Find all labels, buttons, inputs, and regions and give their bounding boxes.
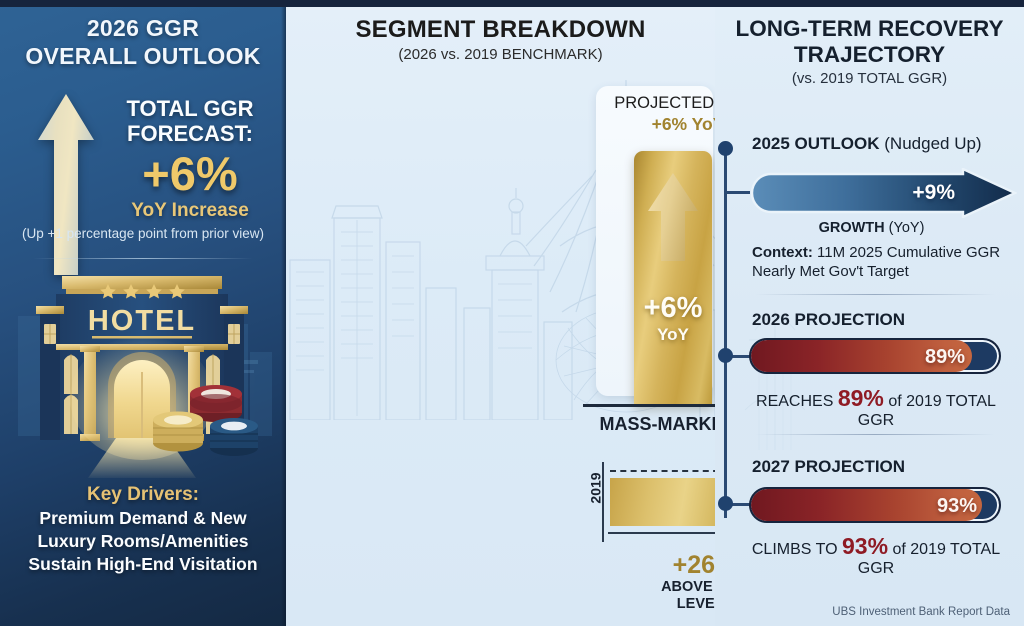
- section-heading-2026: 2026 PROJECTION: [752, 310, 905, 330]
- projection-caption-2027: CLIMBS TO 93% of 2019 TOTAL GGR: [745, 533, 1007, 578]
- left-title-line2: OVERALL OUTLOOK: [0, 42, 286, 70]
- projection-caption-2026: REACHES 89% of 2019 TOTAL GGR: [745, 385, 1007, 430]
- key-drivers-line2: Luxury Rooms/Amenities: [4, 531, 282, 552]
- mini-2019-level-line-mass: [610, 470, 715, 472]
- left-title-line1: 2026 GGR: [0, 14, 286, 42]
- growth-arrow-bar-2025: +9%: [749, 168, 1017, 218]
- mid-title-main: SEGMENT BREAKDOWN: [286, 16, 715, 44]
- projection-value-2026: 89%: [925, 346, 965, 369]
- growth-label-bold: GROWTH: [819, 220, 885, 236]
- timeline-dot-2026: [718, 348, 733, 363]
- key-drivers-heading: Key Drivers:: [4, 483, 282, 506]
- heading-2025-normal: (Nudged Up): [880, 134, 982, 153]
- gold-bar-value: +6%: [634, 293, 712, 324]
- top-strip: [0, 0, 1024, 7]
- mini-bar-mass: [610, 478, 715, 526]
- context-label: Context:: [752, 244, 813, 261]
- growth-label-2025: GROWTH (YoY): [749, 220, 994, 236]
- caption-2026-big: 89%: [838, 385, 884, 411]
- segment-breakdown-title: SEGMENT BREAKDOWN (2026 vs. 2019 BENCHMA…: [286, 16, 715, 63]
- projection-bar-2027: 93%: [749, 487, 1001, 523]
- left-panel: 2026 GGR OVERALL OUTLOOK TOTAL GGR FOREC…: [0, 0, 286, 626]
- category-label-mass-market: MASS-MARKET GGR: [590, 414, 715, 435]
- heading-2026-bold: 2026 PROJECTION: [752, 310, 905, 329]
- rise-label-text: PROJECTED RISE:: [588, 94, 715, 113]
- projection-bar-2026: 89%: [749, 338, 1001, 374]
- middle-panel: SEGMENT BREAKDOWN (2026 vs. 2019 BENCHMA…: [286, 0, 715, 626]
- timeline-rail: [724, 148, 727, 518]
- key-drivers-line1: Premium Demand & New: [4, 508, 282, 529]
- separator-2: [755, 434, 995, 435]
- gold-bar-sub: YoY: [634, 325, 712, 345]
- mass-market-gold-bar: +6% YoY: [634, 151, 712, 405]
- hotel-illustration: HOTEL: [0, 268, 286, 478]
- right-title-line2: TRAJECTORY: [715, 42, 1024, 68]
- mass-pct-value: +26%: [620, 552, 715, 579]
- source-footer: UBS Investment Bank Report Data: [832, 606, 1010, 618]
- gold-up-arrow-icon: [645, 171, 701, 268]
- up-arrow-icon: [36, 92, 96, 277]
- forecast-label-line2: FORECAST:: [100, 121, 280, 146]
- growth-label-normal: (YoY): [885, 220, 925, 236]
- right-title-line1: LONG-TERM RECOVERY: [715, 16, 1024, 42]
- key-drivers: Key Drivers: Premium Demand & New Luxury…: [4, 483, 282, 575]
- forecast-subtitle: YoY Increase: [100, 200, 280, 222]
- mid-title-sub: (2026 vs. 2019 BENCHMARK): [286, 46, 715, 63]
- mass-pct-sub1: ABOVE 2019: [620, 579, 715, 596]
- forecast-label-line1: TOTAL GGR: [100, 96, 280, 121]
- context-note-2025: Context: 11M 2025 Cumulative GGR Nearly …: [752, 243, 1002, 281]
- timeline-stub-2025: [726, 191, 750, 194]
- section-heading-2027: 2027 PROJECTION: [752, 457, 905, 477]
- chart-baseline: [583, 404, 715, 407]
- timeline-dot-2025: [718, 141, 733, 156]
- left-panel-title: 2026 GGR OVERALL OUTLOOK: [0, 14, 286, 70]
- rise-label-value: +6% YoY: [588, 114, 715, 135]
- caption-2027-pre: CLIMBS TO: [752, 541, 842, 558]
- mass-market-mini-chart: 2019 2019 Level: [602, 462, 715, 602]
- forecast-value: +6%: [100, 148, 280, 200]
- separator-1: [755, 294, 995, 295]
- mini-axis-label-mass: 2019: [588, 472, 604, 503]
- right-title-sub: (vs. 2019 TOTAL GGR): [715, 70, 1024, 87]
- hotel-sign-text: HOTEL: [88, 305, 196, 337]
- mass-pct-sub2: LEVELS: [620, 596, 715, 613]
- heading-2027-bold: 2027 PROJECTION: [752, 457, 905, 476]
- forecast-note: (Up +1 percentage point from prior view): [6, 226, 280, 242]
- mass-pct-block: +26% ABOVE 2019 LEVELS: [620, 552, 715, 613]
- timeline-dot-2027: [718, 496, 733, 511]
- projection-value-2027: 93%: [937, 495, 977, 518]
- growth-value-2025: +9%: [912, 181, 955, 205]
- caption-2027-big: 93%: [842, 533, 888, 559]
- caption-2026-pre: REACHES: [756, 393, 838, 410]
- left-divider: [33, 258, 253, 259]
- projected-rise-label: PROJECTED RISE: +6% YoY: [588, 94, 715, 135]
- total-ggr-forecast: TOTAL GGR FORECAST: +6% YoY Increase: [100, 96, 280, 222]
- key-drivers-line3: Sustain High-End Visitation: [4, 554, 282, 575]
- recovery-trajectory-title: LONG-TERM RECOVERY TRAJECTORY (vs. 2019 …: [715, 16, 1024, 87]
- section-heading-2025: 2025 OUTLOOK (Nudged Up): [752, 134, 982, 154]
- heading-2025-bold: 2025 OUTLOOK: [752, 134, 880, 153]
- mini-arrow-mass: [608, 524, 715, 547]
